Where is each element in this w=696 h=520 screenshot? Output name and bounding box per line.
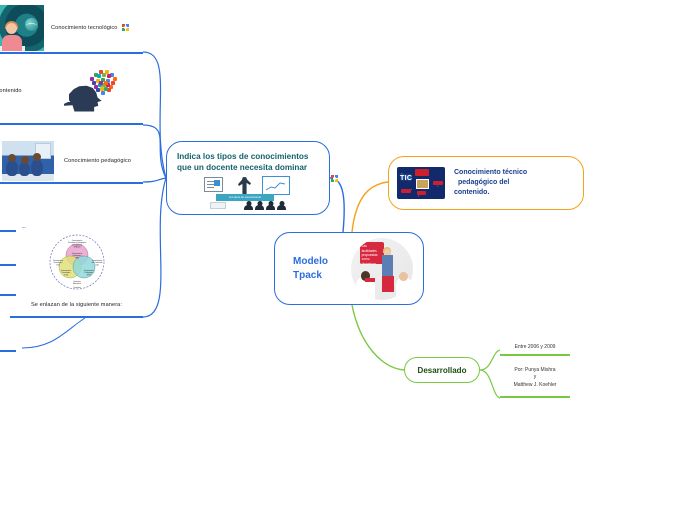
node-autores[interactable]: Por: Punya Mishra y Matthew J. Koehler xyxy=(500,360,570,398)
classroom-presentation-photo: Las facilidades propuestas como dinámico… xyxy=(351,238,413,300)
node-se-enlazan[interactable]: Conocimiento Tecnologico Pedagogico del … xyxy=(10,228,143,318)
node-years-label: Entre 2006 y 2009 xyxy=(515,344,556,352)
node-entre-2006-y-2009[interactable]: Entre 2006 y 2009 xyxy=(500,341,570,356)
node-autores-line2: y xyxy=(534,374,537,382)
node-se-enlazan-label: Se enlazan de la siguiente manera: xyxy=(31,302,122,308)
node-conocimiento-tecnologico[interactable]: Conocimiento tecnológico xyxy=(0,3,143,54)
tic-image-caption: TIC xyxy=(400,175,412,182)
central-node-modelo-tpack[interactable]: Modelo Tpack Las facilidades propuestas … xyxy=(274,232,424,305)
node-autores-line1: Por: Punya Mishra xyxy=(514,367,555,375)
tic-concept-image: TIC xyxy=(397,167,445,199)
mindmap-canvas[interactable]: Conocimiento tecnológico Conocimiento de… xyxy=(0,0,696,520)
node-conocimiento-pedagogico[interactable]: Conocimiento pedagógico xyxy=(0,140,143,184)
svg-text:Contextos: Contextos xyxy=(73,286,81,289)
node-contenido-label: Conocimiento del contenido xyxy=(0,88,22,94)
offscreen-stub-4[interactable] xyxy=(0,334,16,352)
central-label-line2: Tpack xyxy=(293,269,351,283)
node-tpck-label: Conocimiento técnico pedagógico del cont… xyxy=(445,168,527,197)
offscreen-stub-1[interactable] xyxy=(0,214,16,232)
presentation-audience-illustration: Los tipos de conocimiento xyxy=(202,176,294,210)
node-tecnologico-label: Conocimiento tecnológico xyxy=(51,25,117,31)
offscreen-stub-2[interactable] xyxy=(0,248,16,266)
central-label-line1: Modelo xyxy=(293,255,351,269)
node-tipos-line1: Indica los tipos de conocimientos xyxy=(177,151,319,162)
offscreen-stub-3[interactable] xyxy=(0,278,16,296)
svg-text:(PCK): (PCK) xyxy=(86,274,91,276)
svg-text:Educativos: Educativos xyxy=(72,282,80,285)
svg-text:(PK): (PK) xyxy=(75,257,79,259)
node-tipos-line2: que un docente necesita dominar xyxy=(177,162,319,173)
tpack-venn-diagram: Conocimiento Tecnologico Pedagogico del … xyxy=(46,234,108,292)
svg-text:(TK): (TK) xyxy=(56,264,60,266)
node-tpck-line3: contenido. xyxy=(454,188,527,198)
node-tpck-line2: pedagógico del xyxy=(454,178,527,188)
node-autores-line3: Matthew J. Koehler xyxy=(514,382,557,390)
svg-text:(TPACK): (TPACK) xyxy=(73,245,80,248)
node-pedagogico-label: Conocimiento pedagógico xyxy=(64,158,131,164)
node-tipos-heading: Indica los tipos de conocimientos que un… xyxy=(177,151,319,173)
multicolor-app-icon-tipos[interactable] xyxy=(331,175,338,182)
node-tipos-de-conocimientos[interactable]: Indica los tipos de conocimientos que un… xyxy=(166,141,330,215)
svg-text:(CK): (CK) xyxy=(95,264,99,266)
svg-text:(TCK): (TCK) xyxy=(63,274,68,276)
central-node-label: Modelo Tpack xyxy=(283,255,351,282)
presentation-banner-text: Los tipos de conocimiento xyxy=(216,194,274,201)
node-conocimiento-tecnico-pedagogico[interactable]: TIC Conocimiento técnico pedagógico del … xyxy=(388,156,584,210)
node-desarrollado-label: Desarrollado xyxy=(418,366,467,375)
node-conocimiento-del-contenido[interactable]: Conocimiento del contenido xyxy=(0,58,143,125)
node-tpck-line1: Conocimiento técnico xyxy=(454,168,527,178)
technology-avatar-image xyxy=(0,5,44,51)
multicolor-app-icon[interactable] xyxy=(122,24,129,31)
head-with-icons-heart-image xyxy=(63,68,119,114)
classroom-students-photo xyxy=(2,141,54,181)
node-desarrollado[interactable]: Desarrollado xyxy=(404,357,480,383)
